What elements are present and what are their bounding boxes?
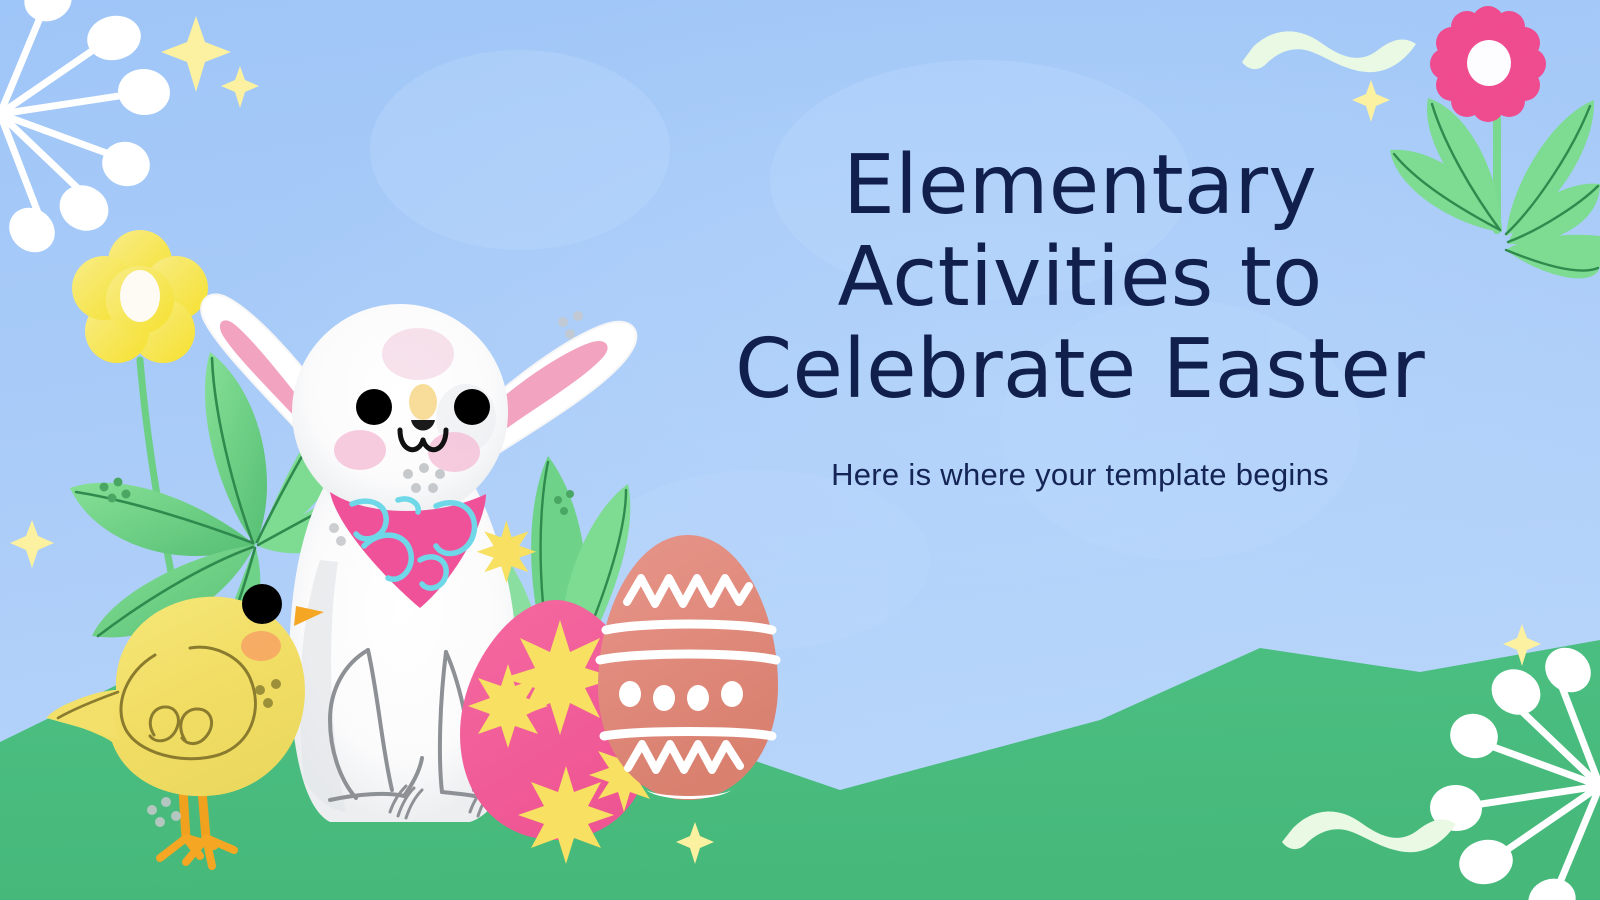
- slide-subtitle: Here is where your template begins: [735, 457, 1425, 493]
- easter-title-slide: Elementary Activities to Celebrate Easte…: [0, 0, 1600, 900]
- slide-text-block: Elementary Activities to Celebrate Easte…: [735, 140, 1425, 493]
- page-title: Elementary Activities to Celebrate Easte…: [735, 140, 1425, 415]
- easter-chick-illustration: [46, 584, 324, 866]
- coral-striped-egg-illustration: [598, 535, 778, 800]
- bunny-foot-dots: [147, 797, 181, 827]
